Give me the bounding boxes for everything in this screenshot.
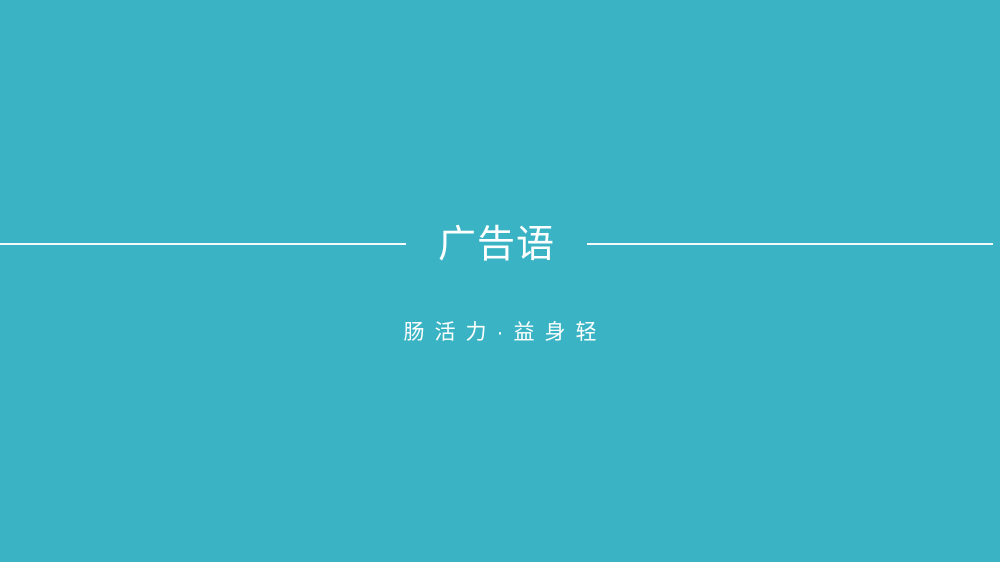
page-title: 广告语 — [406, 226, 587, 264]
divider-line-right — [587, 243, 993, 245]
divider-line-left — [0, 243, 406, 245]
slide-subtitle: 肠活力·益身轻 — [0, 322, 1000, 343]
slide-canvas: 广告语 肠活力·益身轻 — [0, 0, 1000, 562]
